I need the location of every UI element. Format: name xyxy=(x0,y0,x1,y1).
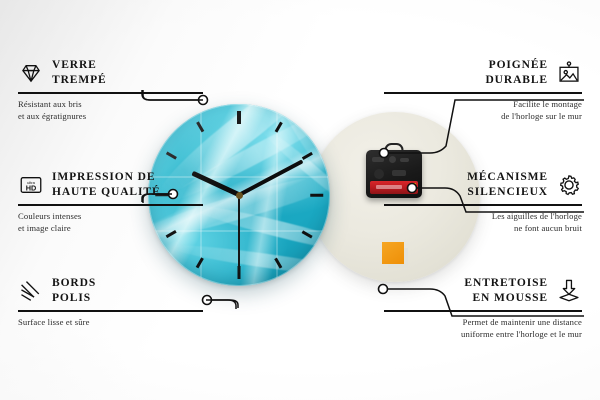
feature-header: ultra HD IMPRESSION DEHAUTE QUALITÉ xyxy=(18,170,216,200)
foam-spacer-icon xyxy=(556,278,582,304)
svg-text:HD: HD xyxy=(26,184,37,193)
ultra-hd-icon: ultra HD xyxy=(18,172,44,198)
feature-divider xyxy=(18,92,203,93)
feature-bords-polis: BORDSPOLIS Surface lisse et sûre xyxy=(18,276,216,328)
feature-header: VERRETREMPÉ xyxy=(18,58,216,88)
feature-title: ENTRETOISEEN MOUSSE xyxy=(464,276,548,306)
feature-entretoise-en-mousse: ENTRETOISEEN MOUSSE Permet de maintenir … xyxy=(384,276,582,340)
wall-hanger-icon xyxy=(556,60,582,86)
feature-description: Les aiguilles de l'horlogene font aucun … xyxy=(384,210,582,234)
feature-description: Couleurs intenseset image claire xyxy=(18,210,216,234)
mechanism-detail xyxy=(389,156,396,163)
mechanism-detail xyxy=(374,169,384,179)
diamond-icon xyxy=(18,60,44,86)
mechanism-hanger-icon xyxy=(385,143,404,155)
mechanism-detail xyxy=(400,158,409,162)
gear-icon xyxy=(556,172,582,198)
feature-description: Facilite le montagede l'horloge sur le m… xyxy=(384,98,582,122)
feature-header: ENTRETOISEEN MOUSSE xyxy=(384,276,582,306)
feature-description: Surface lisse et sûre xyxy=(18,316,216,328)
feature-divider xyxy=(18,310,203,311)
feature-poignee-durable: POIGNÉEDURABLE Facilite le montagede l'h… xyxy=(384,58,582,122)
feature-mecanisme-silencieux: MÉCANISMESILENCIEUX Les aiguilles de l'h… xyxy=(384,170,582,234)
feature-header: BORDSPOLIS xyxy=(18,276,216,306)
feature-title: BORDSPOLIS xyxy=(52,276,96,306)
foam-spacer xyxy=(382,242,404,264)
feature-divider xyxy=(384,310,582,311)
feature-divider xyxy=(384,92,582,93)
feature-header: POIGNÉEDURABLE xyxy=(384,58,582,88)
feature-title: MÉCANISMESILENCIEUX xyxy=(467,170,548,200)
feature-divider xyxy=(18,204,203,205)
polished-edges-icon xyxy=(18,278,44,304)
mechanism-detail xyxy=(372,157,384,162)
feature-title: VERRETREMPÉ xyxy=(52,58,107,88)
feature-header: MÉCANISMESILENCIEUX xyxy=(384,170,582,200)
feature-impression-haute-qualite: ultra HD IMPRESSION DEHAUTE QUALITÉ Coul… xyxy=(18,170,216,234)
feature-description: Résistant aux briset aux égratignures xyxy=(18,98,216,122)
feature-title: POIGNÉEDURABLE xyxy=(485,58,548,88)
feature-description: Permet de maintenir une distanceuniforme… xyxy=(384,316,582,340)
feature-title: IMPRESSION DEHAUTE QUALITÉ xyxy=(52,170,161,200)
feature-verre-trempe: VERRETREMPÉ Résistant aux briset aux égr… xyxy=(18,58,216,122)
feature-divider xyxy=(384,204,582,205)
